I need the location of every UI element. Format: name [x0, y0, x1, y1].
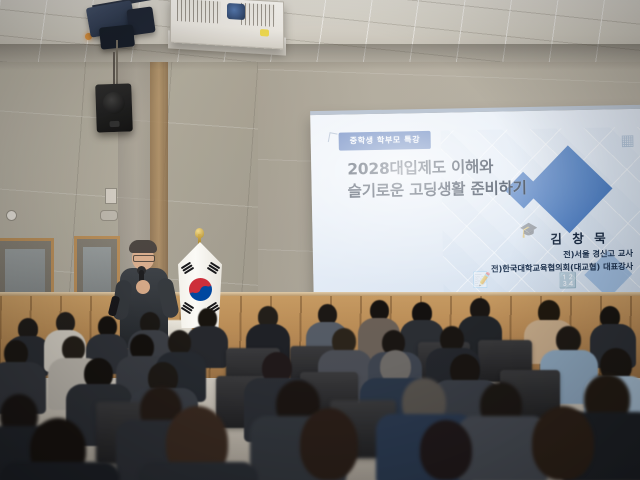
slide-corner-tick	[328, 132, 338, 143]
speaker-mount-rod	[113, 52, 115, 86]
slide-credentials: 전)서울 경신고 교사 전)한국대학교육협의회(대교협) 대표강사	[491, 247, 634, 276]
slide-badge: 중학생 학부모 특강	[339, 131, 432, 151]
wall-fixture	[105, 188, 117, 204]
graduation-cap-icon: 🎓	[520, 223, 539, 238]
ceiling-projector-icon	[170, 0, 284, 49]
wall-sensor-icon	[6, 210, 17, 221]
glasses-icon	[133, 255, 155, 262]
cap-icon	[129, 240, 157, 253]
wall-fixture	[100, 210, 118, 221]
slide-title: 2028대입제도 이해와 슬기로운 고딩생활 준비하기	[347, 155, 527, 202]
calculator-icon: 🔢	[559, 273, 578, 288]
pa-speaker-icon	[95, 83, 133, 132]
window-icon: ▦	[620, 133, 634, 148]
projector-led	[260, 29, 269, 37]
credential-line-2: 전)한국대학교육협의회(대교협) 대표강사	[491, 260, 633, 276]
projection-screen: 🎓 📝 🔢 ▦ 중학생 학부모 특강 2028대입제도 이해와 슬기로운 고딩생…	[310, 109, 640, 305]
ceiling-shadow	[0, 44, 640, 70]
slide-presenter-name: 김 창 묵	[550, 227, 609, 247]
projector-lens	[227, 3, 245, 20]
projected-slide: 🎓 📝 🔢 ▦ 중학생 학부모 특강 2028대입제도 이해와 슬기로운 고딩생…	[310, 109, 640, 305]
slide-title-line-2: 슬기로운 고딩생활 준비하기	[347, 177, 527, 202]
lecture-hall-photo: 🎓 📝 🔢 ▦ 중학생 학부모 특강 2028대입제도 이해와 슬기로운 고딩생…	[0, 0, 640, 480]
light-pole	[116, 40, 118, 88]
document-pen-icon: 📝	[473, 273, 492, 288]
